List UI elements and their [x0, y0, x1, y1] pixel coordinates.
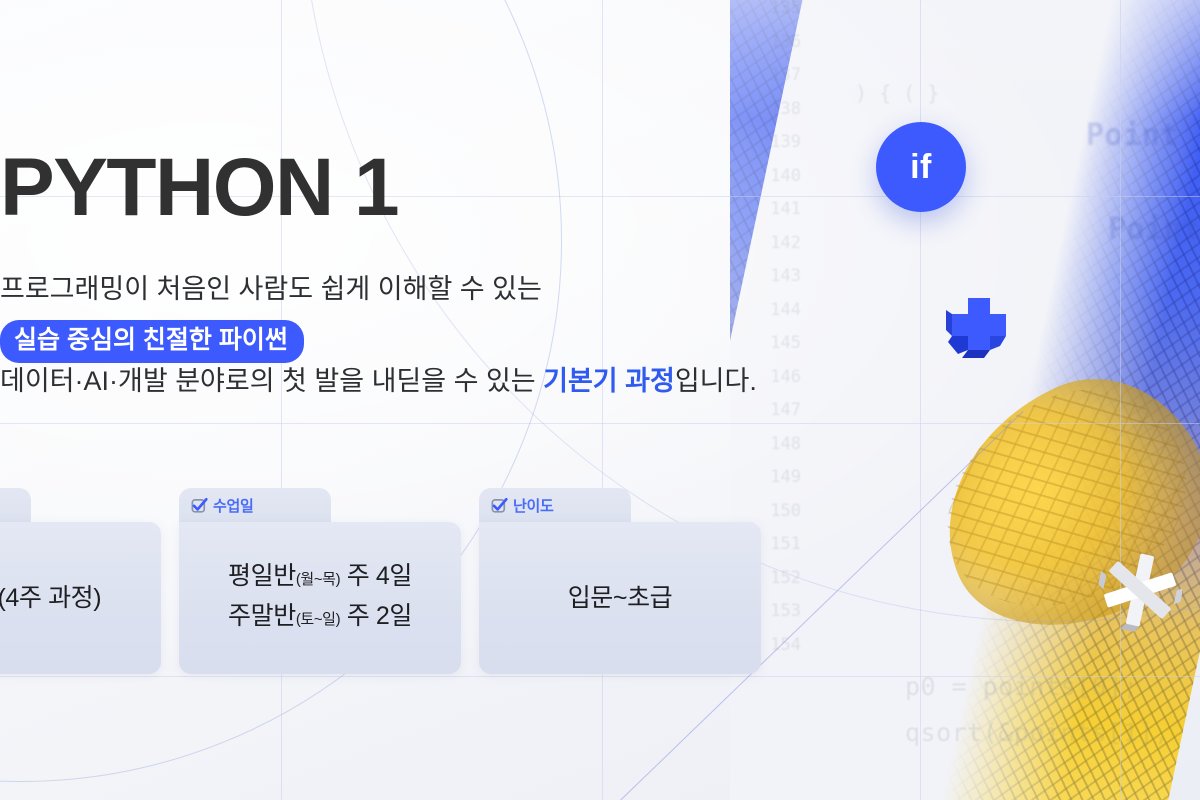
info-card-tab: 교육기간 — [0, 488, 31, 522]
if-badge-label: if — [910, 148, 932, 187]
info-card-tab: 난이도 — [479, 488, 631, 522]
code-snippet-line2: qsort(&points[1], — [905, 718, 1169, 747]
info-card-tab-label: 난이도 — [513, 495, 554, 516]
subtitle-line-3-suffix: 입니다. — [675, 366, 757, 396]
info-card-tab-label: 수업일 — [213, 495, 254, 516]
hero-banner: 135 136 137 138 139 140 141 142 143 144 … — [0, 0, 1200, 800]
info-card-value: 1개월(4주 과정) — [0, 580, 101, 616]
subtitle-line-3-accent: 기본기 과정 — [543, 366, 675, 396]
check-square-icon — [491, 497, 508, 514]
info-card-difficulty[interactable]: 난이도 입문~초급 — [479, 488, 761, 674]
info-card-classdays[interactable]: 수업일 평일반(월~목) 주 4일 주말반(토~일) 주 2일 — [179, 488, 461, 674]
info-card-body: 입문~초급 — [479, 522, 761, 674]
weekend-label: 주말반 — [228, 602, 296, 630]
weekend-range: (토~일) — [296, 611, 340, 628]
check-square-icon — [191, 497, 208, 514]
subtitle-line-3: 데이터·AI·개발 분야로의 첫 발을 내딛을 수 있는 기본기 과정입니다. — [0, 362, 757, 400]
page-title: PYTHON 1 — [0, 140, 398, 236]
info-card-body: 평일반(월~목) 주 4일 주말반(토~일) 주 2일 — [179, 522, 461, 674]
info-card-value-weekday: 평일반(월~목) 주 4일 — [228, 558, 412, 598]
info-card-value-weekend: 주말반(토~일) 주 2일 — [228, 598, 412, 638]
info-card-tab: 수업일 — [179, 488, 331, 522]
weekend-count: 주 2일 — [340, 602, 412, 630]
info-card-list: 교육기간 1개월(4주 과정) 수업일 평일반(월~목) 주 4일 주말반(토~… — [0, 488, 761, 674]
highlight-pill: 실습 중심의 친절한 파이썬 — [0, 320, 304, 363]
subtitle-line-3-prefix: 데이터·AI·개발 분야로의 첫 발을 내딛을 수 있는 — [0, 366, 543, 396]
info-card-duration[interactable]: 교육기간 1개월(4주 과정) — [0, 488, 161, 674]
if-badge: if — [876, 122, 966, 212]
plus-3d-icon — [944, 288, 1014, 358]
weekday-label: 평일반 — [228, 562, 296, 590]
asterisk-3d-icon — [1098, 548, 1182, 632]
subtitle-line-1: 프로그래밍이 처음인 사람도 쉽게 이해할 수 있는 — [0, 270, 542, 308]
info-card-value: 입문~초급 — [568, 580, 673, 616]
info-card-body: 1개월(4주 과정) — [0, 522, 161, 674]
weekday-count: 주 4일 — [340, 562, 412, 590]
weekday-range: (월~목) — [296, 571, 340, 588]
